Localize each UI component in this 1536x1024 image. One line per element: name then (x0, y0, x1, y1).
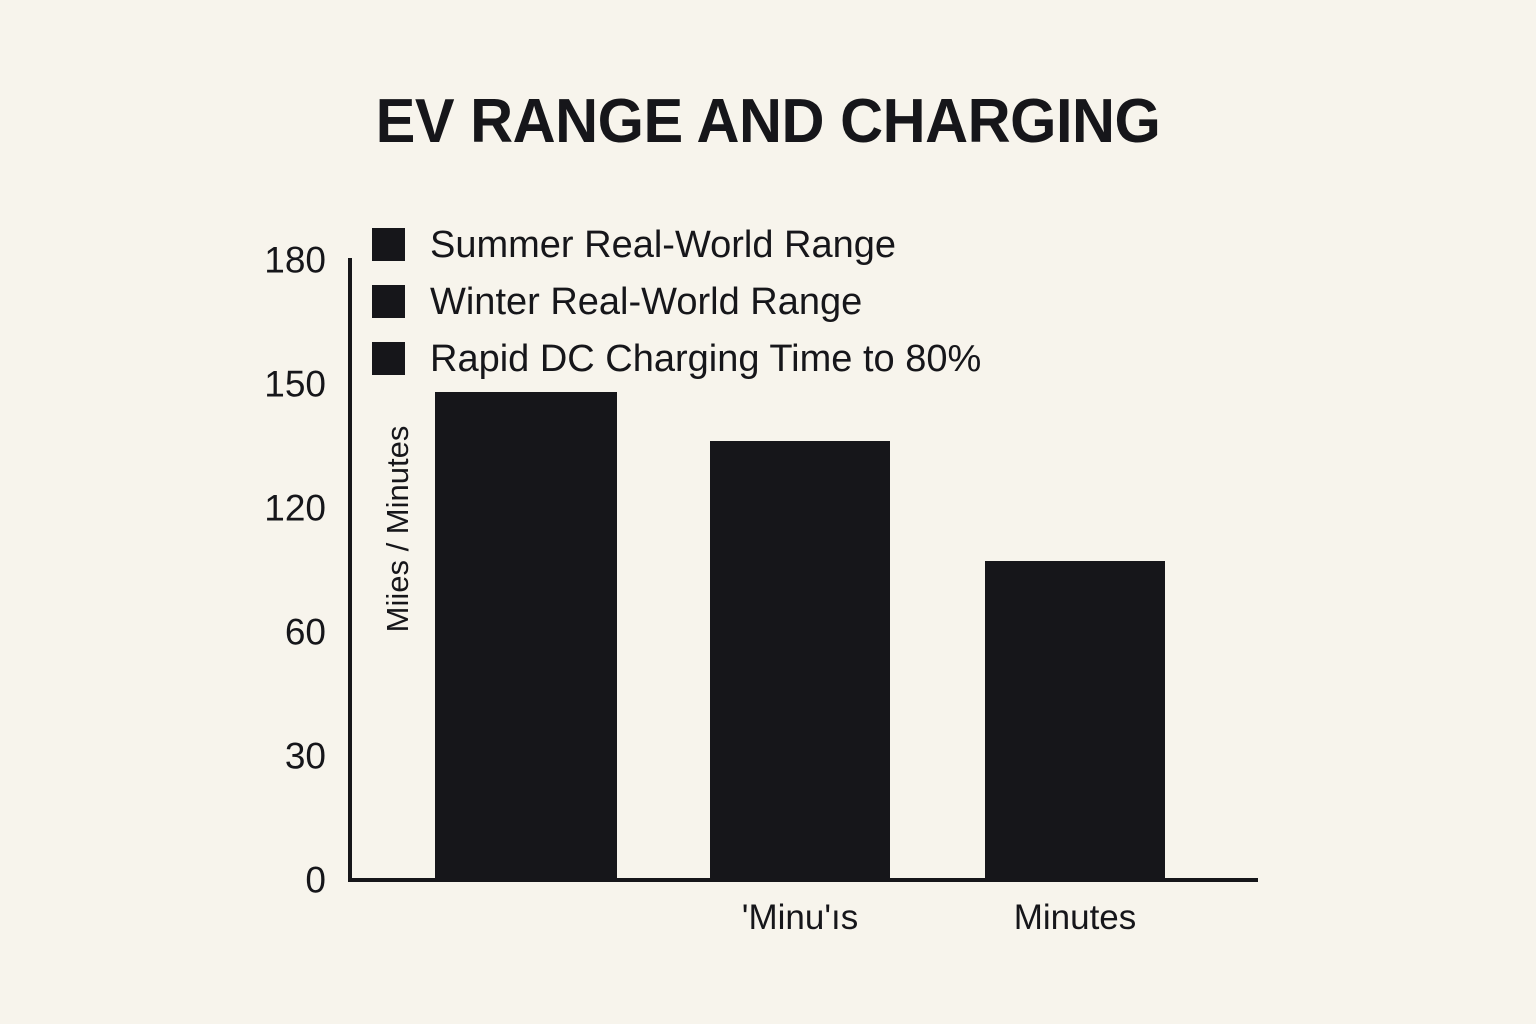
bar (435, 392, 617, 878)
legend-item-label: Rapid DC Charging Time to 80% (430, 340, 981, 378)
chart-title: EV RANGE AND CHARGING (31, 86, 1506, 157)
legend-item-label: Summer Real-World Range (430, 226, 896, 264)
legend-item: Rapid DC Charging Time to 80% (372, 330, 981, 387)
y-axis-tick-label: 150 (264, 366, 326, 403)
legend-item-label: Winter Real-World Range (430, 283, 862, 321)
x-axis-tick-label: Minutes (1014, 898, 1137, 938)
chart-legend: Summer Real-World RangeWinter Real-World… (372, 216, 981, 387)
y-axis-tick-label: 60 (285, 614, 326, 651)
legend-item: Winter Real-World Range (372, 273, 981, 330)
x-axis-tick-label: 'Minu'ıs (742, 898, 858, 938)
bar (710, 441, 890, 878)
y-axis-tick-label: 120 (264, 490, 326, 527)
ev-range-chart-figure: EV RANGE AND CHARGING Miies / Minutes 18… (0, 0, 1536, 1024)
legend-swatch-icon (372, 228, 405, 261)
y-axis-tick-label: 180 (264, 242, 326, 279)
legend-swatch-icon (372, 342, 405, 375)
y-axis-tick-label: 30 (285, 738, 326, 775)
legend-item: Summer Real-World Range (372, 216, 981, 273)
bar (985, 561, 1165, 878)
y-axis-tick-label: 0 (305, 862, 326, 899)
x-axis-line (348, 878, 1258, 882)
legend-swatch-icon (372, 285, 405, 318)
y-axis-line (348, 258, 352, 882)
